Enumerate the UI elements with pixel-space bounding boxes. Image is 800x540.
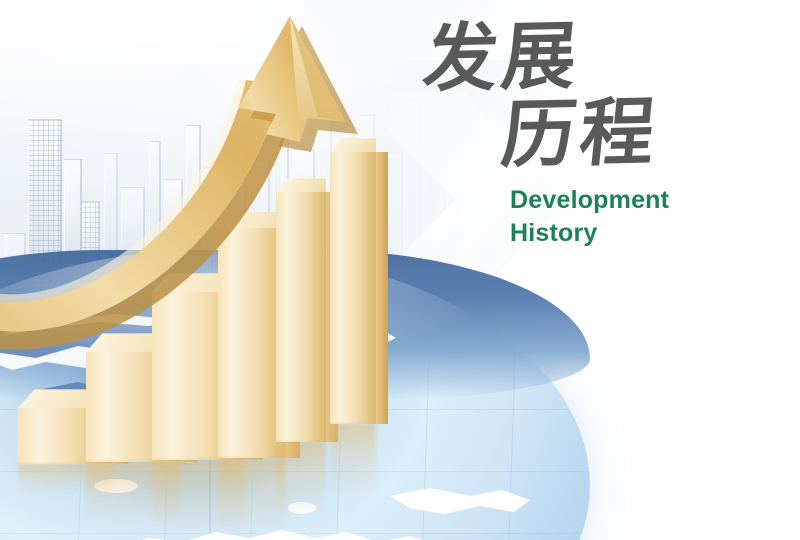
bar-front-face (330, 152, 376, 424)
bar-column (330, 152, 376, 424)
title-english-line-1: Development (510, 184, 754, 217)
bar-reflection (276, 442, 326, 514)
bar-top-face (330, 138, 376, 152)
development-history-banner: 发展 历程 Development History (0, 0, 800, 540)
title-english-line-2: History (510, 217, 754, 250)
bar-reflection (330, 424, 376, 496)
bar-front-face (276, 192, 326, 442)
title-chinese-line-2: 历程 (498, 96, 758, 172)
bar-side-face (376, 152, 388, 424)
title-chinese-line-1: 发展 (420, 19, 758, 97)
bar-column (276, 192, 326, 442)
bar-top-face (276, 178, 326, 192)
title-block: 发展 历程 Development History (424, 22, 754, 250)
